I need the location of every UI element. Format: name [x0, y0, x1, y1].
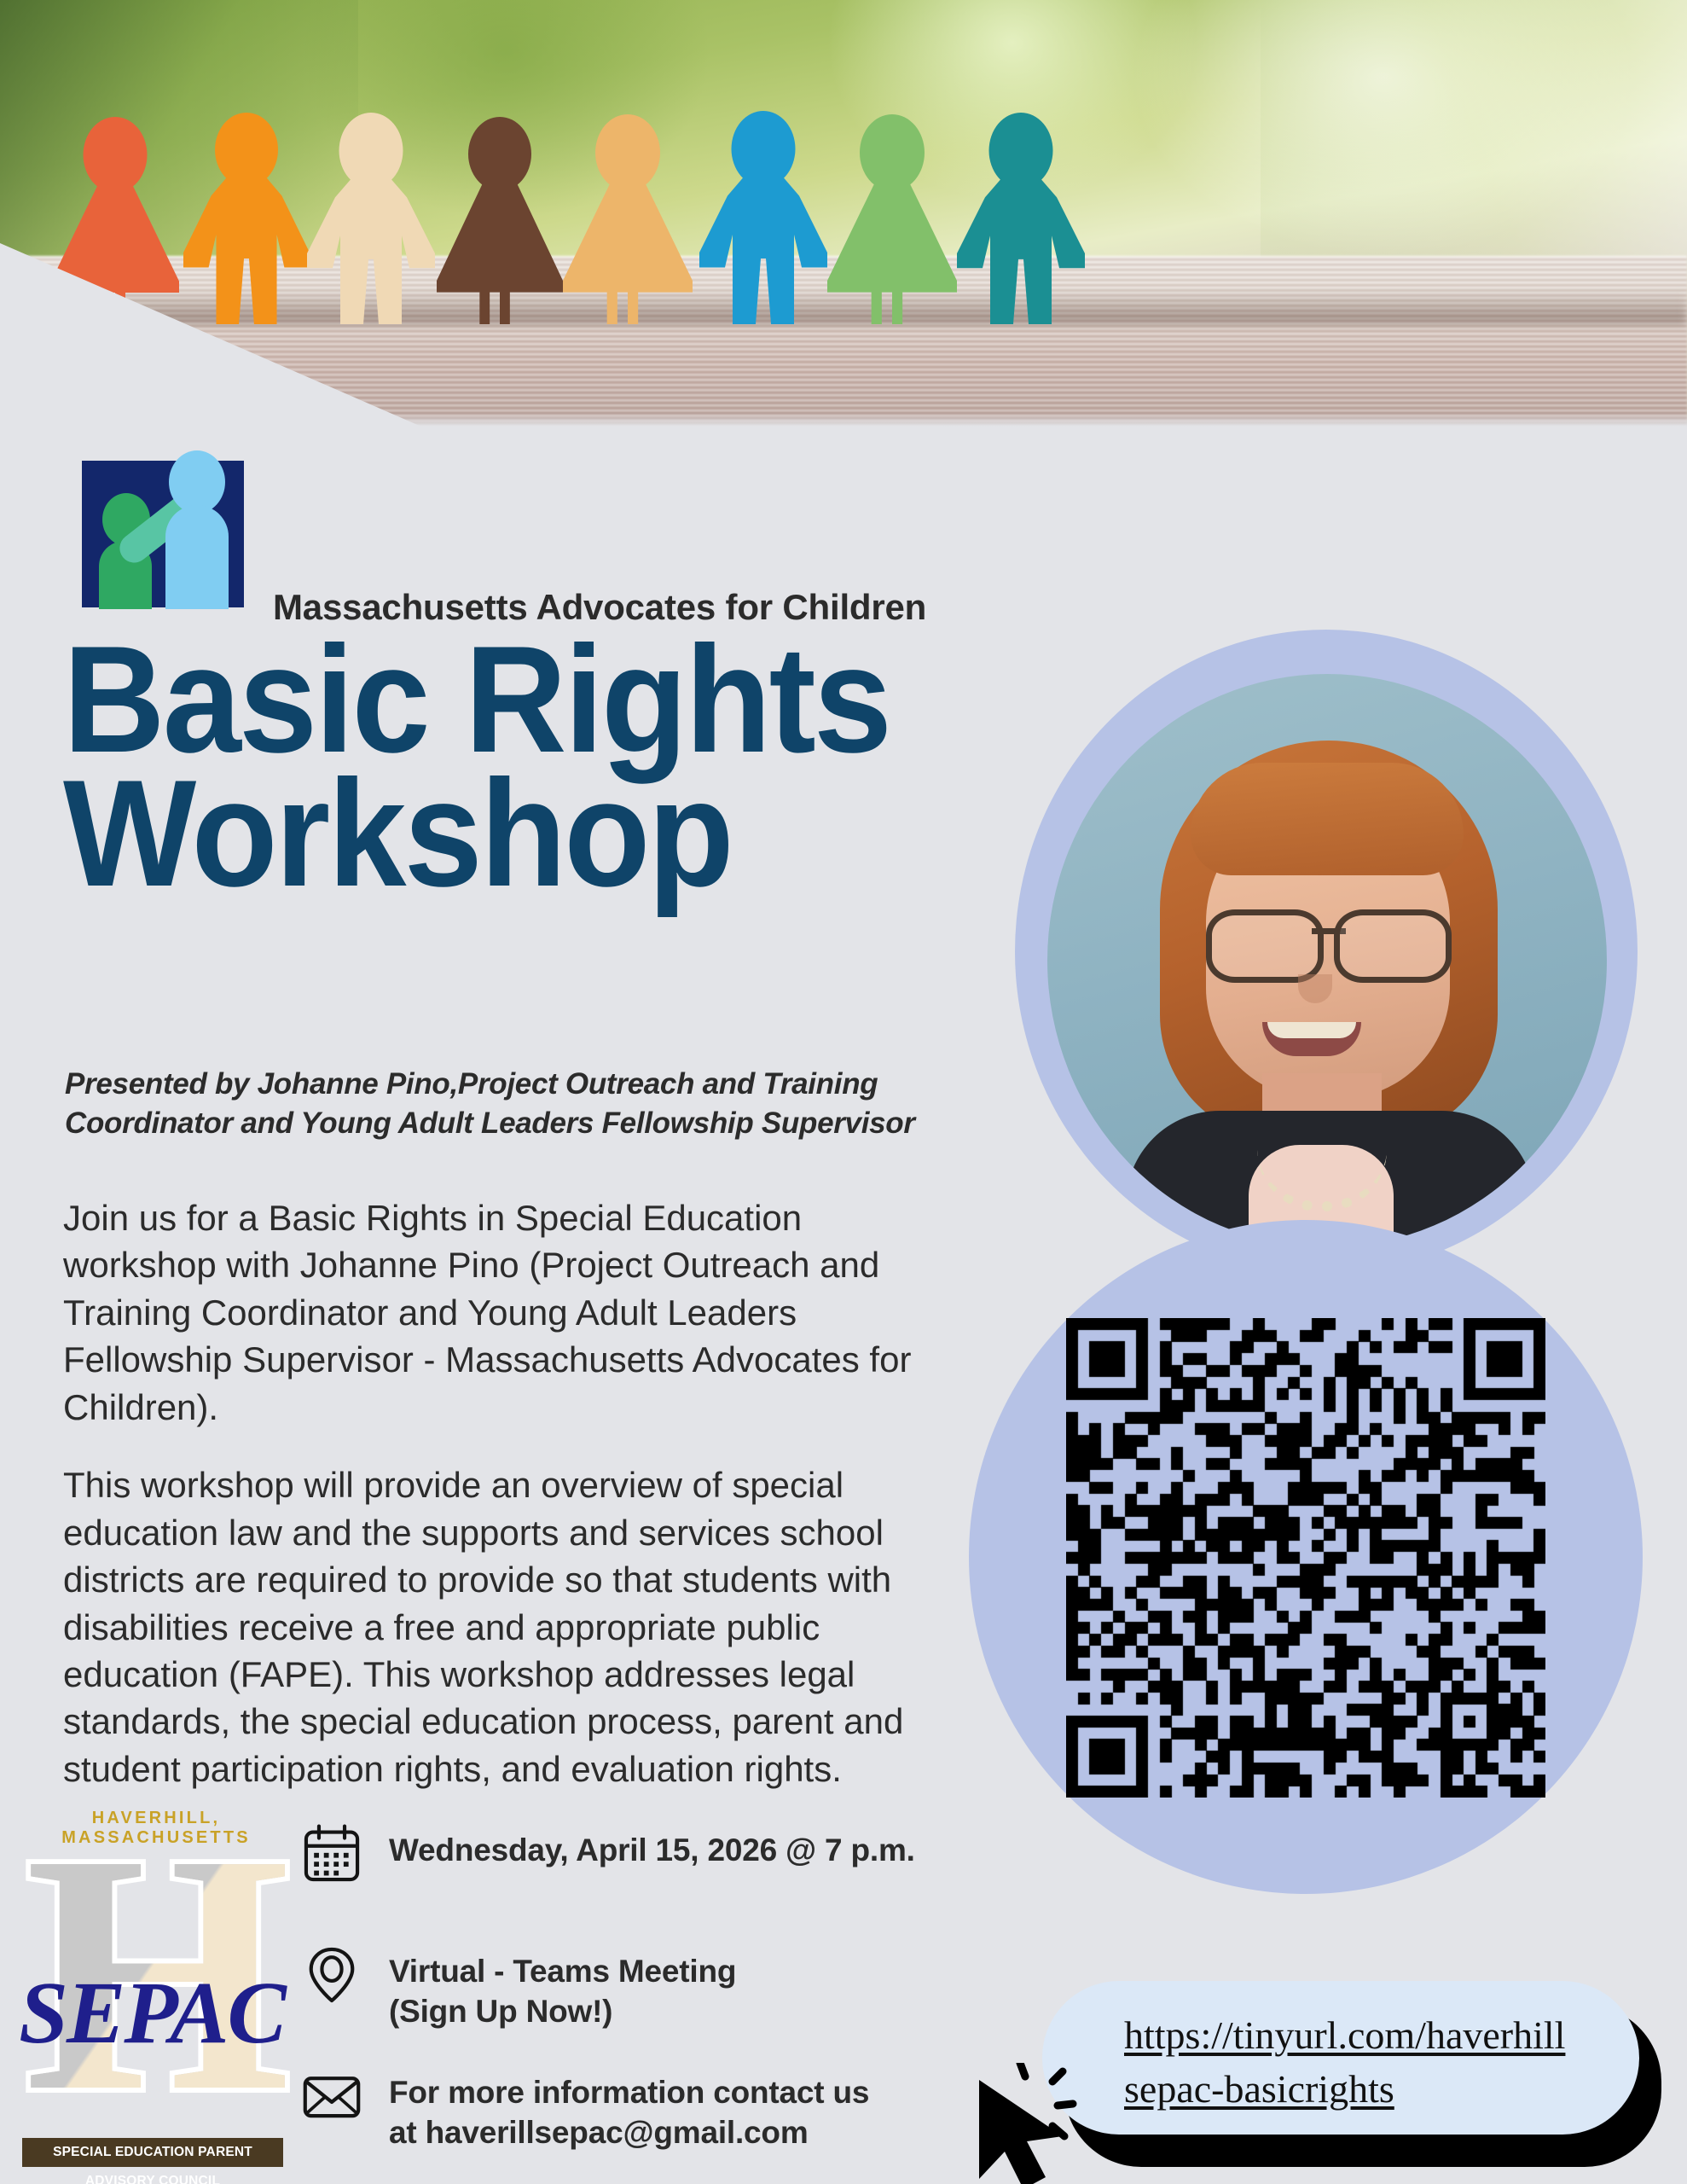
detail-location-line1: Virtual - Teams Meeting: [389, 1954, 736, 1989]
description-paragraph-1: Join us for a Basic Rights in Special Ed…: [63, 1194, 933, 1431]
detail-email-text: For more information contact us at haver…: [389, 2065, 869, 2152]
envelope-icon: [300, 2065, 363, 2128]
flyer-page: Massachusetts Advocates for Children Bas…: [0, 0, 1687, 2184]
description-paragraph-2: This workshop will provide an overview o…: [63, 1461, 933, 1792]
wooden-figure-body: [827, 179, 957, 324]
headshot-lens-right: [1334, 909, 1452, 983]
qr-code[interactable]: [1066, 1318, 1545, 1798]
wooden-figure: [437, 117, 563, 326]
detail-email-line1: For more information contact us: [389, 2075, 869, 2110]
detail-date-line1: Wednesday, April 15, 2026 @ 7 p.m.: [389, 1833, 915, 1867]
headshot-glasses: [1204, 909, 1453, 973]
wooden-figure: [827, 114, 957, 326]
wooden-figure: [563, 114, 693, 326]
url-line2: sepac-basicrights: [1124, 2067, 1394, 2111]
url-callout-bubble[interactable]: https://tinyurl.com/haverhill sepac-basi…: [1042, 1981, 1639, 2135]
url-line1: https://tinyurl.com/haverhill: [1124, 2013, 1565, 2057]
page-title: Basic Rights Workshop: [63, 633, 959, 900]
headshot-lens-left: [1206, 909, 1324, 983]
url-callout-text[interactable]: https://tinyurl.com/haverhill sepac-basi…: [1124, 2008, 1619, 2117]
detail-location-line2: (Sign Up Now!): [389, 1994, 612, 2029]
wooden-figure-body: [563, 179, 693, 324]
wooden-figure: [699, 111, 827, 326]
presenter-headshot: [1047, 674, 1607, 1247]
wooden-figure: [307, 113, 435, 326]
description-block: Join us for a Basic Rights in Special Ed…: [63, 1194, 933, 1823]
presenter-byline-line1: Presented by Johanne Pino,Project Outrea…: [65, 1065, 1020, 1104]
presenter-byline: Presented by Johanne Pino,Project Outrea…: [65, 1065, 1020, 1142]
wooden-figure-body: [307, 177, 435, 324]
wooden-figure-body: [699, 175, 827, 324]
wooden-figure: [957, 113, 1085, 326]
sepac-logo-tagline: SPECIAL EDUCATION PARENT ADVISORY COUNCI…: [22, 2138, 283, 2167]
mac-logo-adult-body: [165, 505, 229, 609]
mac-logo-adult-head: [169, 450, 225, 514]
detail-email-line2: at haverillsepac@gmail.com: [389, 2115, 809, 2150]
calendar-icon: [300, 1822, 363, 1885]
headshot-teeth: [1267, 1022, 1356, 1038]
sepac-logo: HAVERHILL, MASSACHUSETTS H H SEPAC SPECI…: [9, 1809, 294, 2182]
detail-row-location: Virtual - Teams Meeting (Sign Up Now!): [300, 1943, 736, 2031]
cursor-arrow-icon: [974, 2063, 1110, 2184]
page-title-line1: Basic Rights: [63, 633, 959, 767]
wooden-figure: [183, 113, 310, 326]
detail-location-text: Virtual - Teams Meeting (Sign Up Now!): [389, 1943, 736, 2031]
presenter-byline-line2: Coordinator and Young Adult Leaders Fell…: [65, 1104, 1020, 1143]
sepac-logo-wordmark: SEPAC: [14, 1962, 290, 2064]
detail-row-date: Wednesday, April 15, 2026 @ 7 p.m.: [300, 1822, 915, 1885]
wooden-figure-body: [957, 177, 1085, 324]
wooden-figure-body: [183, 175, 310, 324]
detail-row-email: For more information contact us at haver…: [300, 2065, 869, 2152]
headshot-bangs: [1191, 763, 1464, 875]
wooden-figure-body: [437, 179, 563, 324]
location-pin-icon: [300, 1943, 363, 2007]
page-title-line2: Workshop: [63, 767, 959, 901]
detail-date-text: Wednesday, April 15, 2026 @ 7 p.m.: [389, 1822, 915, 1871]
mac-logo: [67, 450, 261, 608]
